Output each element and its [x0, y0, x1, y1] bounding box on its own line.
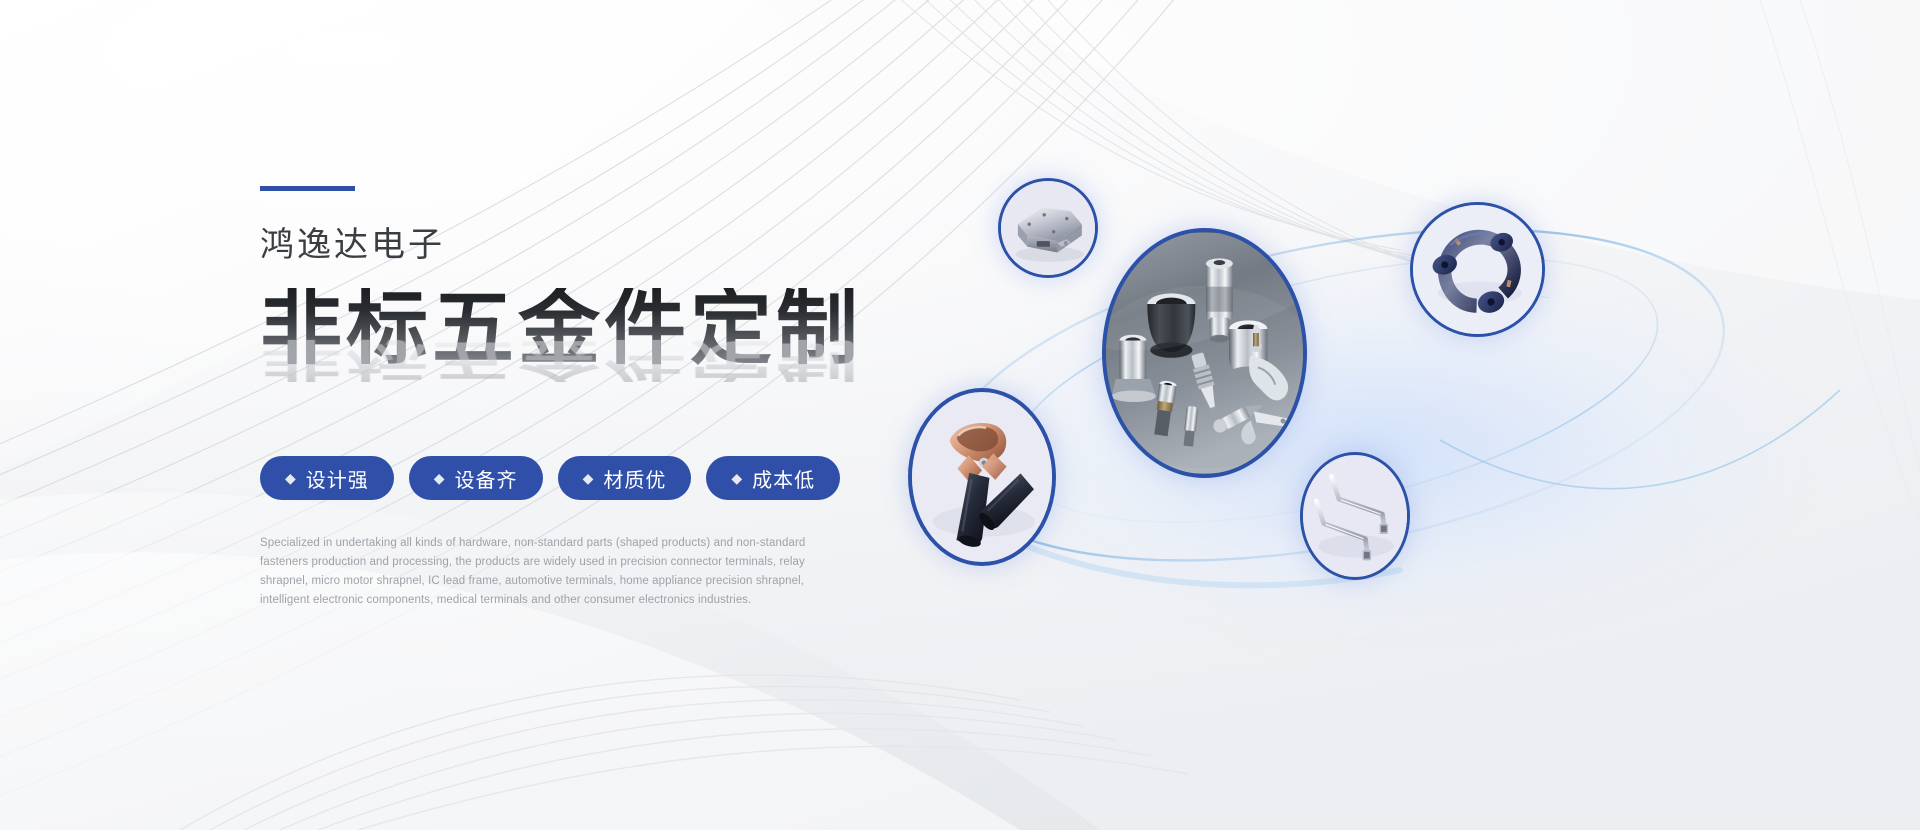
- feature-pill-label: 设备齐: [455, 464, 518, 493]
- feature-pill-equipment[interactable]: ◆ 设备齐: [409, 456, 543, 500]
- feature-pill-material[interactable]: ◆ 材质优: [558, 456, 692, 500]
- bubble-blue-retaining-clip[interactable]: [1410, 202, 1545, 337]
- headline-reflection: 非标五金件定制: [260, 337, 862, 382]
- headline-block: 非标五金件定制 非标五金件定制: [260, 288, 900, 438]
- copper-clamp: [912, 392, 1052, 562]
- diamond-icon: ◆: [583, 471, 595, 485]
- hero-banner: 鸿逸达电子 非标五金件定制 非标五金件定制 ◆ 设计强 ◆ 设备齐 ◆ 材质优 …: [0, 0, 1920, 830]
- bubble-aluminium-enclosure[interactable]: [998, 178, 1098, 278]
- background-glow: [940, 260, 1820, 640]
- brand-name: 鸿逸达电子: [260, 228, 900, 262]
- diamond-icon: ◆: [285, 471, 297, 485]
- company-description: Specialized in undertaking all kinds of …: [260, 534, 825, 610]
- blue-retaining-clip: [1413, 205, 1542, 334]
- bubble-hex-key-pins[interactable]: [1300, 452, 1410, 580]
- feature-pill-label: 设计强: [306, 464, 369, 493]
- hex-key-pins: [1303, 455, 1407, 577]
- diamond-icon: ◆: [434, 471, 446, 485]
- hero-parts-photo: [1106, 232, 1303, 474]
- hero-copy-column: 鸿逸达电子 非标五金件定制 非标五金件定制 ◆ 设计强 ◆ 设备齐 ◆ 材质优 …: [260, 186, 900, 610]
- feature-pill-design[interactable]: ◆ 设计强: [260, 456, 394, 500]
- feature-pill-cost[interactable]: ◆ 成本低: [706, 456, 840, 500]
- feature-pill-label: 材质优: [603, 464, 666, 493]
- bubble-copper-clamp[interactable]: [908, 388, 1056, 566]
- aluminium-enclosure: [1001, 181, 1095, 275]
- accent-rule: [260, 186, 355, 191]
- feature-pill-label: 成本低: [752, 464, 815, 493]
- product-visual-cluster: [880, 140, 1880, 700]
- diamond-icon: ◆: [731, 471, 743, 485]
- bubble-hero-parts-photo[interactable]: [1102, 228, 1307, 478]
- feature-pill-row: ◆ 设计强 ◆ 设备齐 ◆ 材质优 ◆ 成本低: [260, 456, 900, 500]
